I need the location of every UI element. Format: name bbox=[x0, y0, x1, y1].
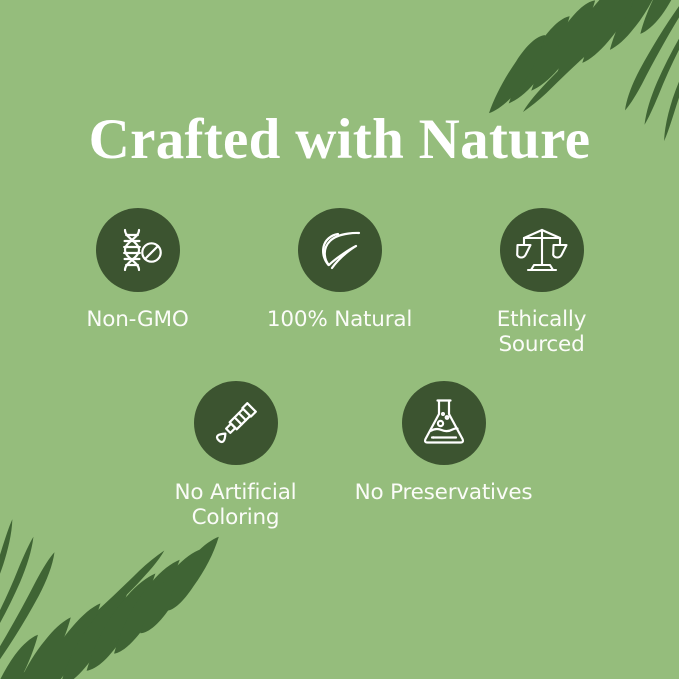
feature-no-preservatives[interactable]: No Preservatives bbox=[340, 381, 548, 505]
feature-no-artificial-coloring[interactable]: No Artificial Coloring bbox=[132, 381, 340, 530]
erlenmeyer-flask-icon bbox=[416, 395, 472, 451]
dna-no-gmo-icon-circle bbox=[96, 208, 180, 292]
feature-ethically-sourced[interactable]: Ethically Sourced bbox=[441, 208, 643, 357]
feature-label: No Preservatives bbox=[355, 480, 533, 505]
erlenmeyer-flask-icon-circle bbox=[402, 381, 486, 465]
balance-scales-icon bbox=[514, 222, 570, 278]
feature-100-natural[interactable]: 100% Natural bbox=[239, 208, 441, 332]
crafted-with-nature-banner: Crafted with Nature Non-GMO bbox=[0, 0, 679, 679]
feature-row-secondary: No Artificial Coloring No Preservatives bbox=[0, 381, 679, 530]
page-title: Crafted with Nature bbox=[0, 107, 679, 173]
balance-scales-icon-circle bbox=[500, 208, 584, 292]
dropper-pipette-icon bbox=[208, 395, 264, 451]
feature-label: Ethically Sourced bbox=[497, 307, 586, 357]
feature-non-gmo[interactable]: Non-GMO bbox=[37, 208, 239, 332]
feature-label: 100% Natural bbox=[267, 307, 412, 332]
dropper-pipette-icon-circle bbox=[194, 381, 278, 465]
feature-row-primary: Non-GMO 100% Natural bbox=[0, 208, 679, 357]
leaves-icon-circle bbox=[298, 208, 382, 292]
leaves-icon bbox=[312, 222, 368, 278]
feature-label: Non-GMO bbox=[86, 307, 188, 332]
palm-frond-bottom-left-icon bbox=[0, 513, 244, 679]
dna-no-gmo-icon bbox=[110, 222, 166, 278]
feature-label: No Artificial Coloring bbox=[175, 480, 297, 530]
